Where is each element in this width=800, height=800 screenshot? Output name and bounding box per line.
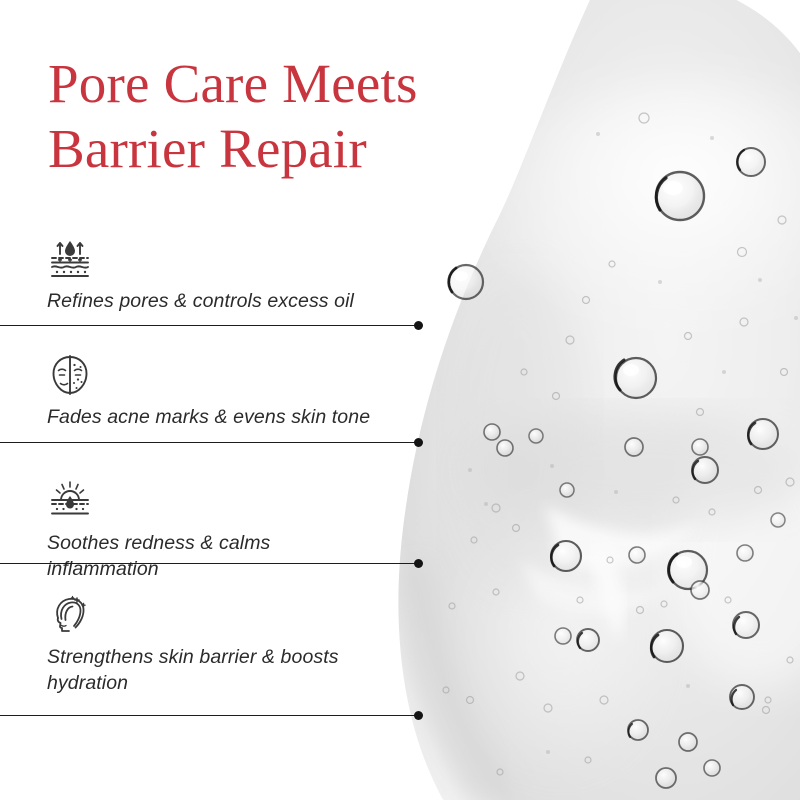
page-title: Pore Care Meets Barrier Repair [48,52,518,182]
split-face-acne-marks-icon [47,352,93,398]
benefit-connector-3 [0,558,423,568]
benefit-label-2: Fades acne marks & evens skin tone [47,405,377,431]
gel-bubbles [443,113,798,788]
benefit-item-1: Refines pores & controls excess oil [47,236,477,315]
connector-dot [414,438,423,447]
connector-dot [414,321,423,330]
benefit-connector-4 [0,710,423,720]
connector-line [0,563,419,565]
benefit-label-1: Refines pores & controls excess oil [47,289,377,315]
connector-line [0,325,419,327]
benefit-item-4: Strengthens skin barrier & boosts hydrat… [47,592,477,696]
connector-dot [414,711,423,720]
skin-layers-oil-control-icon [47,236,93,282]
face-profile-sparkle-icon [47,592,93,638]
connector-dot [414,559,423,568]
connector-line [0,715,419,717]
sun-skin-soothing-icon [47,478,93,524]
infographic-canvas: Pore Care Meets Barrier Repair [0,0,800,800]
benefit-item-2: Fades acne marks & evens skin tone [47,352,477,431]
benefit-connector-2 [0,437,423,447]
benefit-connector-1 [0,320,423,330]
connector-line [0,442,419,444]
benefit-label-4: Strengthens skin barrier & boosts hydrat… [47,645,377,696]
benefit-label-3: Soothes redness & calms inflammation [47,531,377,582]
